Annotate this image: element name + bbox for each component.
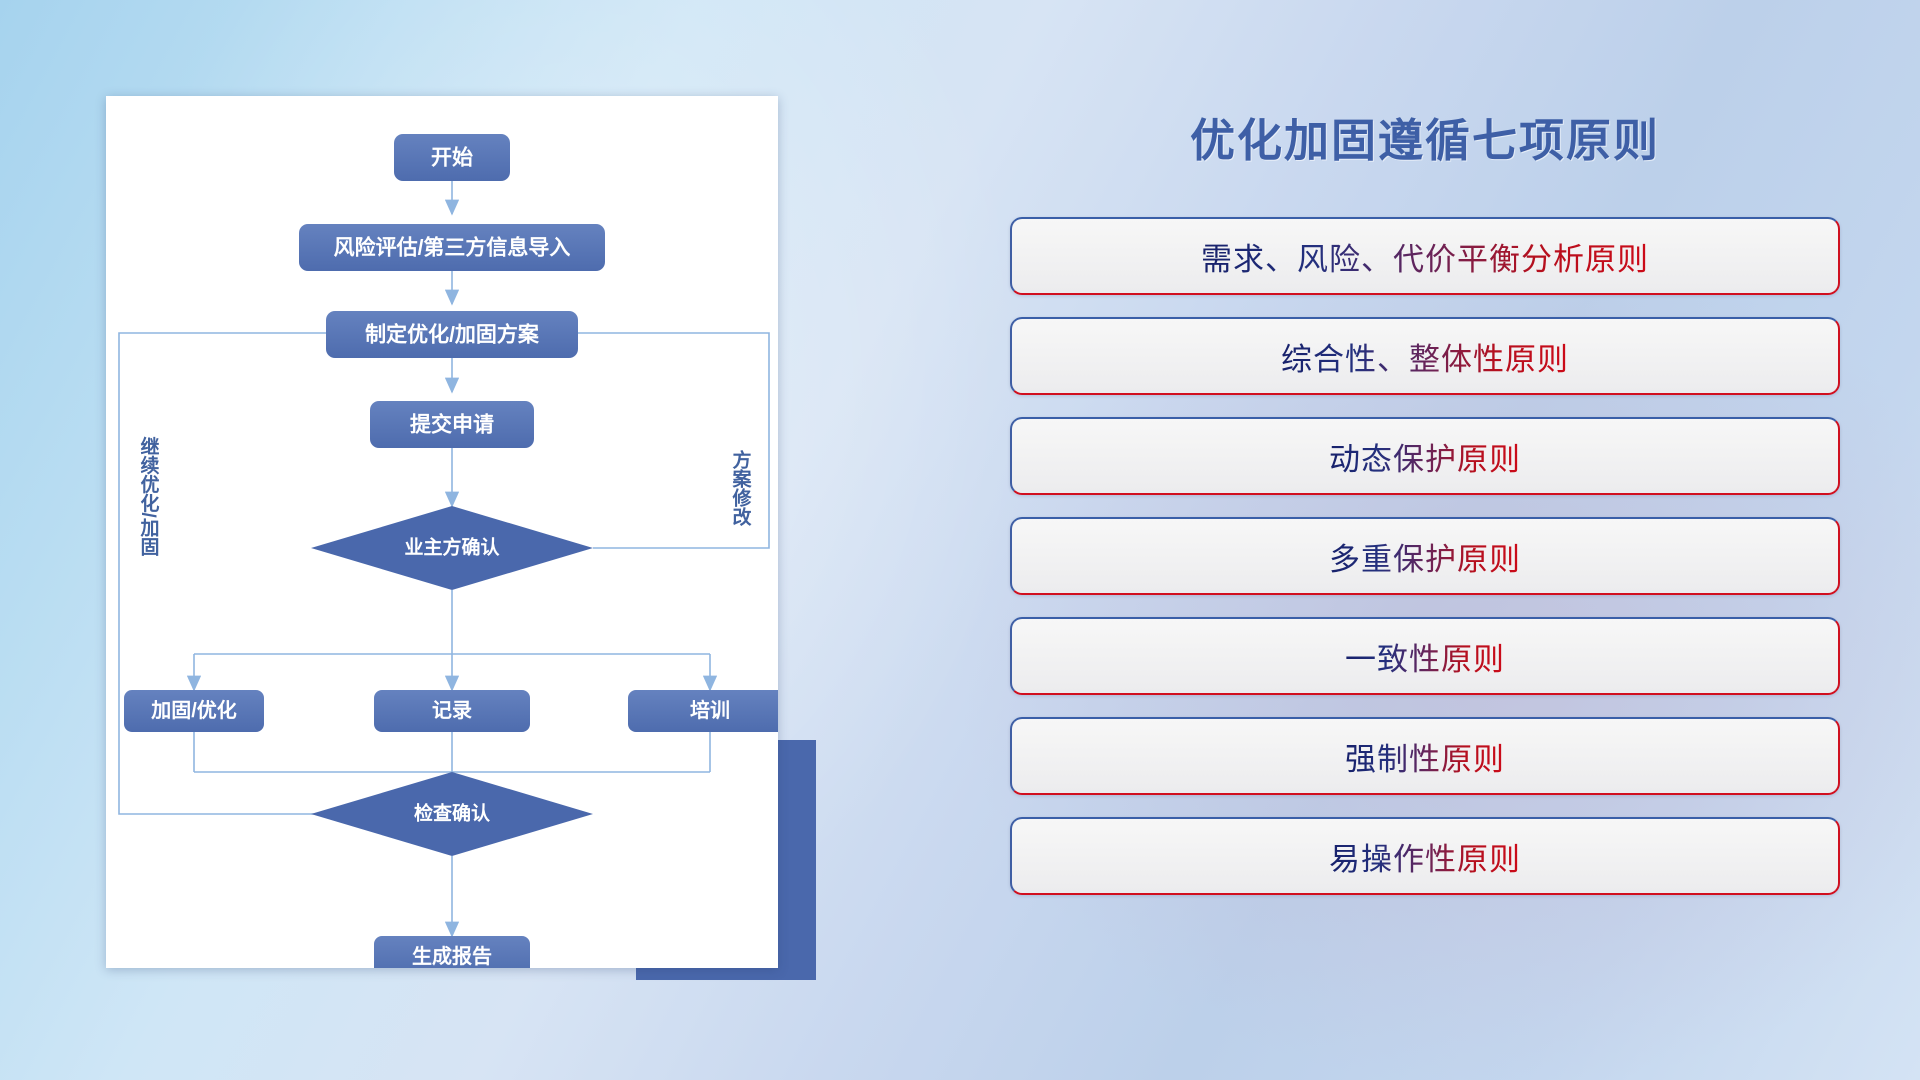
- principle-card[interactable]: 需求、风险、代价平衡分析原则: [1010, 217, 1840, 295]
- principle-label: 易操作性原则: [1329, 834, 1521, 879]
- principle-label: 需求、风险、代价平衡分析原则: [1201, 234, 1649, 279]
- svg-text:制定优化/加固方案: 制定优化/加固方案: [365, 323, 540, 347]
- svg-text:培训: 培训: [690, 698, 730, 722]
- principle-label: 一致性原则: [1345, 634, 1505, 679]
- svg-text:风险评估/第三方信息导入: 风险评估/第三方信息导入: [334, 236, 571, 260]
- flow-node-training[interactable]: 培训: [628, 690, 778, 732]
- svg-text:提交申请: 提交申请: [410, 413, 494, 437]
- svg-text:检查确认: 检查确认: [414, 802, 490, 825]
- svg-text:记录: 记录: [432, 699, 472, 722]
- principle-card[interactable]: 多重保护原则: [1010, 517, 1840, 595]
- flow-node-record[interactable]: 记录: [374, 690, 530, 732]
- principle-label: 综合性、整体性原则: [1281, 334, 1569, 379]
- svg-text:业主方确认: 业主方确认: [404, 536, 499, 559]
- flow-node-start[interactable]: 开始: [394, 134, 510, 181]
- svg-text:生成报告: 生成报告: [412, 944, 492, 968]
- principles-list: 需求、风险、代价平衡分析原则 综合性、整体性原则 动态保护原则 多重保护原则 一…: [1010, 217, 1840, 895]
- flow-node-owner-confirm[interactable]: 业主方确认: [311, 506, 593, 590]
- slide-canvas: 继续优化/加固 方案修改 开始 风险评估/第三方信息导入 制定优化/加固方案 提…: [0, 0, 1920, 1080]
- flowchart-diagram: 继续优化/加固 方案修改 开始 风险评估/第三方信息导入 制定优化/加固方案 提…: [106, 96, 778, 968]
- flow-node-submit-application[interactable]: 提交申请: [370, 401, 534, 448]
- principle-label: 强制性原则: [1345, 734, 1505, 779]
- flowchart-panel: 继续优化/加固 方案修改 开始 风险评估/第三方信息导入 制定优化/加固方案 提…: [106, 96, 778, 968]
- principles-title: 优化加固遵循七项原则: [1010, 104, 1840, 169]
- principle-card[interactable]: 动态保护原则: [1010, 417, 1840, 495]
- flow-node-reinforce-optimize[interactable]: 加固/优化: [124, 690, 264, 732]
- principle-card[interactable]: 综合性、整体性原则: [1010, 317, 1840, 395]
- svg-text:加固/优化: 加固/优化: [150, 698, 237, 722]
- principle-label: 多重保护原则: [1329, 534, 1521, 579]
- flow-node-make-plan[interactable]: 制定优化/加固方案: [326, 311, 578, 358]
- principle-card[interactable]: 易操作性原则: [1010, 817, 1840, 895]
- flow-edge-label-right: 方案修改: [730, 449, 753, 527]
- svg-text:开始: 开始: [431, 146, 473, 170]
- flow-node-generate-report[interactable]: 生成报告: [374, 936, 530, 968]
- flow-edge-label-left: 继续优化/加固: [138, 435, 161, 556]
- flow-node-check-confirm[interactable]: 检查确认: [311, 772, 593, 856]
- principle-label: 动态保护原则: [1329, 434, 1521, 479]
- principle-card[interactable]: 强制性原则: [1010, 717, 1840, 795]
- principles-panel: 优化加固遵循七项原则 需求、风险、代价平衡分析原则 综合性、整体性原则 动态保护…: [1010, 104, 1840, 1004]
- flow-node-risk-assessment[interactable]: 风险评估/第三方信息导入: [299, 224, 605, 271]
- principle-card[interactable]: 一致性原则: [1010, 617, 1840, 695]
